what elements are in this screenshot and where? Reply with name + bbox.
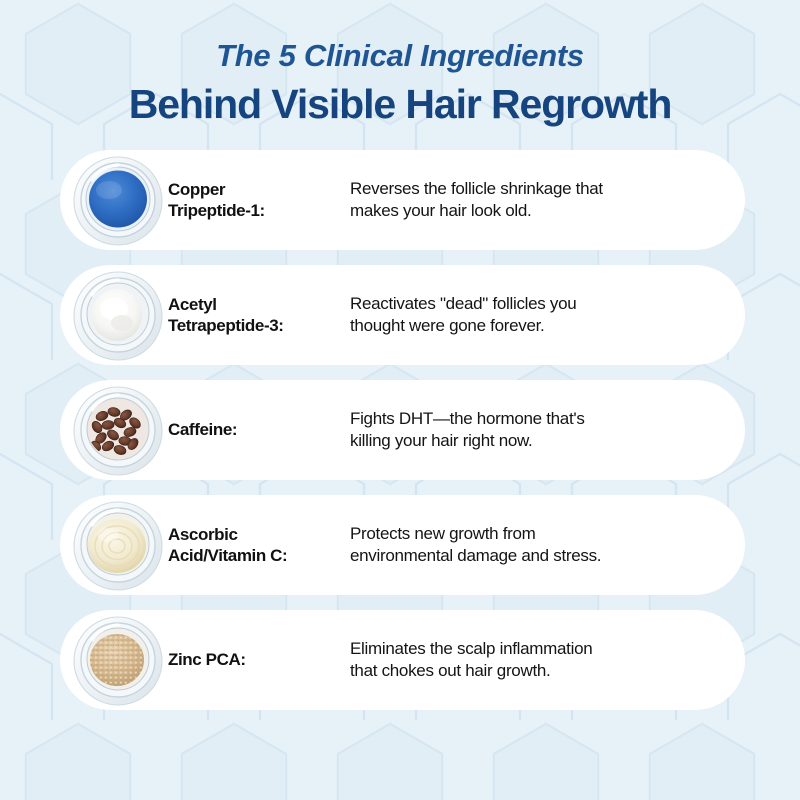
page-title: Behind Visible Hair Regrowth bbox=[0, 80, 800, 128]
ingredient-label: Caffeine: bbox=[168, 419, 350, 440]
ingredient-label: Copper Tripeptide-1: bbox=[168, 179, 350, 222]
header: The 5 Clinical Ingredients Behind Visibl… bbox=[0, 0, 800, 128]
ingredient-row: Acetyl Tetrapeptide-3: Reactivates "dead… bbox=[60, 265, 745, 365]
ingredient-label: Acetyl Tetrapeptide-3: bbox=[168, 294, 350, 337]
ingredient-list: Copper Tripeptide-1: Reverses the follic… bbox=[0, 150, 800, 710]
ingredient-row: Zinc PCA: Eliminates the scalp inflammat… bbox=[60, 610, 745, 710]
white-powder-dish-icon bbox=[72, 269, 164, 361]
ingredient-label: Zinc PCA: bbox=[168, 649, 350, 670]
coffee-beans-dish-icon bbox=[72, 384, 164, 476]
tan-granules-dish-icon bbox=[72, 614, 164, 706]
ingredient-description: Eliminates the scalp inflammation that c… bbox=[350, 638, 731, 682]
ingredient-description: Reactivates "dead" follicles you thought… bbox=[350, 293, 731, 337]
cream-serum-dish-icon bbox=[72, 499, 164, 591]
ingredient-row: Ascorbic Acid/Vitamin C: Protects new gr… bbox=[60, 495, 745, 595]
subtitle: The 5 Clinical Ingredients bbox=[0, 38, 800, 74]
ingredient-description: Protects new growth from environmental d… bbox=[350, 523, 731, 567]
ingredient-description: Reverses the follicle shrinkage that mak… bbox=[350, 178, 731, 222]
blue-powder-dish-icon bbox=[72, 154, 164, 246]
ingredient-row: Copper Tripeptide-1: Reverses the follic… bbox=[60, 150, 745, 250]
ingredient-description: Fights DHT—the hormone that's killing yo… bbox=[350, 408, 731, 452]
ingredient-label: Ascorbic Acid/Vitamin C: bbox=[168, 524, 350, 567]
ingredient-row: Caffeine: Fights DHT—the hormone that's … bbox=[60, 380, 745, 480]
